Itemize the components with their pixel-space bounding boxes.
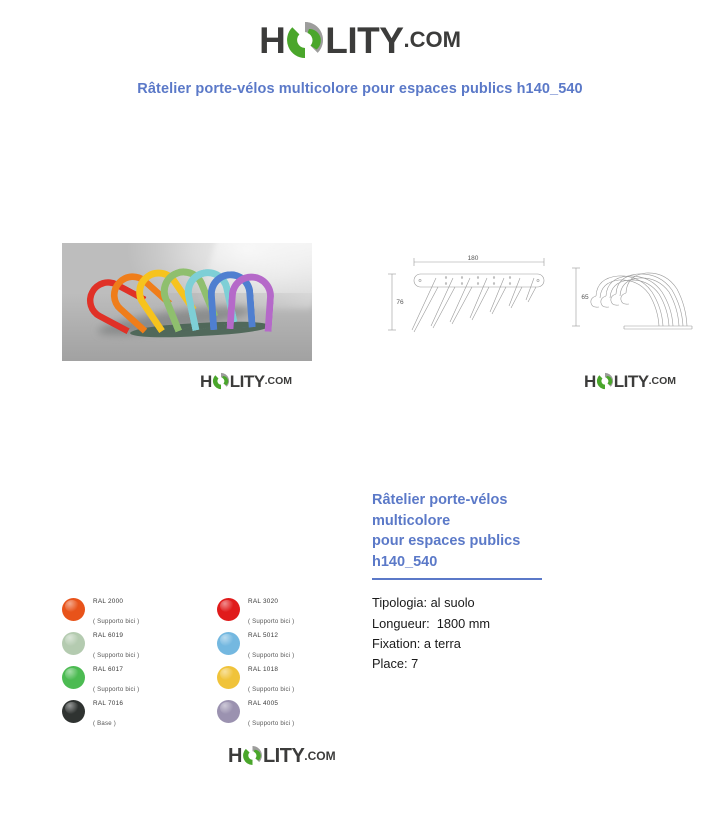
product-title-line-3: h140_540 (372, 552, 542, 573)
swatch-color-dot (217, 598, 240, 621)
logo-suffix: .COM (649, 376, 676, 387)
color-swatch[interactable]: RAL 6019 ( Supporto bici ) (62, 626, 217, 660)
color-swatch[interactable]: RAL 3020 ( Supporto bici ) (217, 592, 372, 626)
swatch-color-dot (217, 632, 240, 655)
spec-row-longueur: Longueur: 1800 mm (372, 614, 672, 634)
color-swatch[interactable]: RAL 1018 ( Supporto bici ) (217, 660, 372, 694)
swatch-note: ( Base ) (93, 720, 116, 727)
spec-row-fixation: Fixation: a terra (372, 634, 672, 654)
swatch-code: RAL 3020 (248, 598, 278, 605)
logo-suffix: .COM (304, 750, 335, 762)
product-title-line-2: pour espaces publics (372, 531, 542, 552)
logo-suffix: .COM (403, 29, 460, 51)
swatch-code: RAL 6017 (93, 666, 123, 673)
tech-top-height-label: 76 (396, 299, 404, 306)
logo-text-left: H (228, 746, 242, 766)
swatch-code: RAL 5012 (248, 632, 278, 639)
swatch-color-dot (62, 666, 85, 689)
tech-side-height-label: 65 (581, 294, 589, 301)
holity-circle-icon (285, 20, 325, 60)
swatch-color-dot (217, 666, 240, 689)
product-info-panel: Râtelier porte-vélos multicolore pour es… (372, 490, 672, 674)
tech-top-width-label: 180 (468, 255, 479, 262)
swatch-code: RAL 4005 (248, 700, 278, 707)
color-swatch[interactable]: RAL 5012 ( Supporto bici ) (217, 626, 372, 660)
swatch-code: RAL 2000 (93, 598, 123, 605)
footer-logo[interactable]: H LITY .COM (228, 745, 336, 766)
color-swatch[interactable]: RAL 6017 ( Supporto bici ) (62, 660, 217, 694)
color-swatch[interactable]: RAL 7016 ( Base ) (62, 694, 217, 728)
swatch-code: RAL 1018 (248, 666, 278, 673)
logo-text-left: H (200, 373, 212, 390)
product-title: Râtelier porte-vélos multicolore pour es… (372, 490, 542, 580)
swatch-color-dot (217, 700, 240, 723)
color-swatch[interactable]: RAL 2000 ( Supporto bici ) (62, 592, 217, 626)
rack-arc (227, 272, 276, 332)
swatch-color-dot (62, 700, 85, 723)
product-title-line-1: Râtelier porte-vélos multicolore (372, 490, 542, 531)
color-swatch-grid: RAL 2000 ( Supporto bici ) RAL 3020 ( Su… (62, 592, 362, 728)
page-title: Râtelier porte-vélos multicolore pour es… (0, 81, 720, 97)
logo-text-right: LITY (230, 373, 265, 390)
logo-text-right: LITY (614, 373, 649, 390)
logo-text-right: LITY (263, 746, 304, 766)
logo-suffix: .COM (265, 376, 292, 387)
swatch-code: RAL 6019 (93, 632, 123, 639)
logo-text-left: H (584, 373, 596, 390)
color-swatch[interactable]: RAL 4005 ( Supporto bici ) (217, 694, 372, 728)
photo-watermark-logo: H LITY .COM (200, 372, 292, 390)
product-specs-list: Tipologia: al suolo Longueur: 1800 mm Fi… (372, 593, 672, 674)
swatch-label: RAL 4005 ( Supporto bici ) (248, 691, 294, 732)
holity-circle-icon (596, 372, 614, 390)
swatch-color-dot (62, 632, 85, 655)
swatch-code: RAL 7016 (93, 700, 123, 707)
swatch-label: RAL 7016 ( Base ) (93, 691, 123, 732)
logo-text-right: LITY (325, 22, 403, 59)
tech-watermark-logo: H LITY .COM (584, 372, 676, 390)
tech-drawing-top-view: 180 76 (386, 248, 566, 338)
holity-circle-icon (242, 745, 263, 766)
swatch-color-dot (62, 598, 85, 621)
spec-row-tipologia: Tipologia: al suolo (372, 593, 672, 613)
spec-row-place: Place: 7 (372, 654, 672, 674)
holity-circle-icon (212, 372, 230, 390)
header-logo[interactable]: H LITY .COM (0, 20, 720, 60)
tech-drawing-side-view: 65 (566, 258, 706, 338)
logo-text-left: H (259, 22, 285, 59)
product-photo (62, 243, 312, 361)
swatch-note: ( Supporto bici ) (248, 720, 294, 727)
